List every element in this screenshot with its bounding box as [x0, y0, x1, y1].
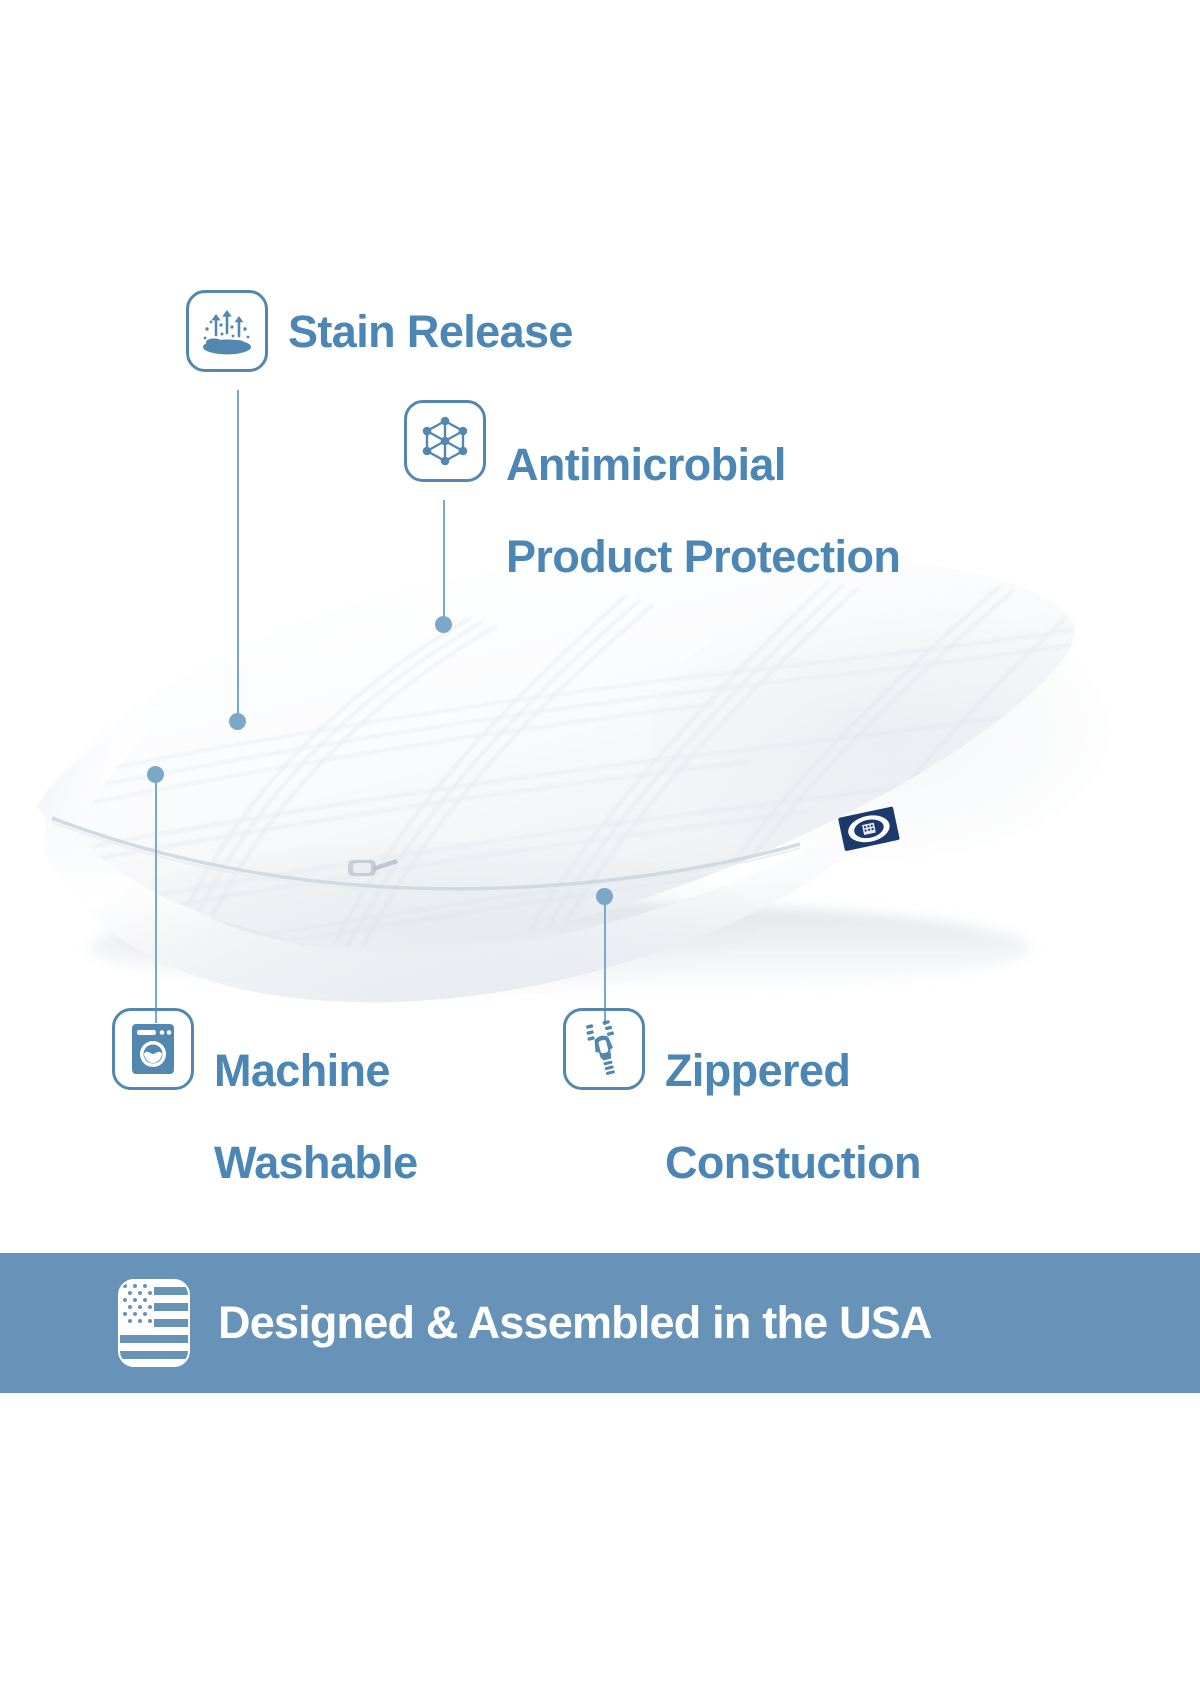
usa-banner: Designed & Assembled in the USA — [0, 1253, 1200, 1393]
usa-flag-icon — [118, 1279, 190, 1367]
feature-label-zippered-line1: Zippered — [665, 1048, 921, 1094]
feature-label-stain-release: Stain Release — [288, 309, 573, 354]
washing-machine-icon — [112, 1008, 194, 1090]
feature-label-zippered-line2: Constuction — [665, 1140, 921, 1186]
usa-banner-label: Designed & Assembled in the USA — [218, 1297, 932, 1349]
feature-label-antimicrobial-line2: Product Protection — [506, 534, 900, 580]
feature-machine-washable[interactable]: Machine Washable — [112, 1008, 418, 1231]
feature-label-machine-washable-line1: Machine — [214, 1048, 418, 1094]
feature-stain-release[interactable]: Stain Release — [186, 290, 573, 372]
feature-label-machine-washable-line2: Washable — [214, 1140, 418, 1186]
feature-zippered-construction[interactable]: Zippered Constuction — [563, 1008, 921, 1231]
antimicrobial-molecule-icon — [404, 400, 486, 482]
feature-antimicrobial[interactable]: Antimicrobial Product Protection — [404, 400, 900, 625]
feature-label-antimicrobial-line1: Antimicrobial — [506, 442, 900, 488]
zipper-icon — [563, 1008, 645, 1090]
infographic-canvas: Stain Release — [0, 0, 1200, 1705]
stain-release-icon — [186, 290, 268, 372]
